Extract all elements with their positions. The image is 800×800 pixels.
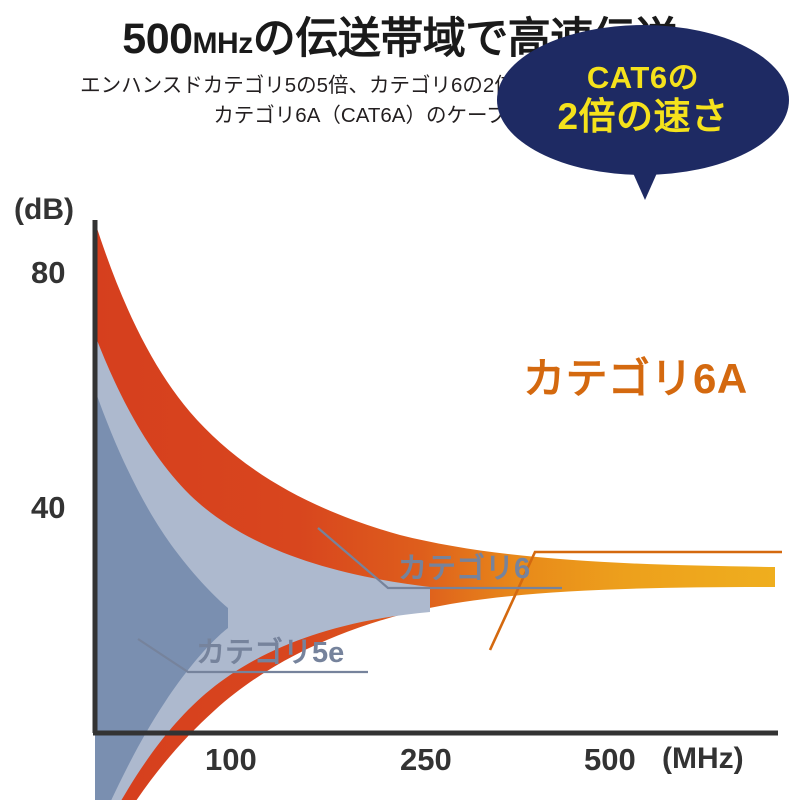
callout-line-2: 2倍の速さ xyxy=(557,96,728,139)
y-tick-label-40: 40 xyxy=(31,490,65,526)
callout-text: CAT6の 2倍の速さ xyxy=(497,25,789,175)
y-tick-label-80: 80 xyxy=(31,255,65,291)
y-axis-unit-label: (dB) xyxy=(14,193,74,227)
headline-number: 500 xyxy=(122,15,192,63)
series-label-cat6a: カテゴリ6A xyxy=(523,345,748,406)
headline-unit: MHz xyxy=(193,27,253,60)
series-label-cat6: カテゴリ6 xyxy=(398,545,530,587)
callout-line-1: CAT6の xyxy=(587,61,699,96)
series-label-cat5e: カテゴリ5e xyxy=(196,629,344,671)
x-tick-label-250: 250 xyxy=(400,742,452,778)
x-tick-label-100: 100 xyxy=(205,742,257,778)
chart-svg xyxy=(0,150,800,800)
bandwidth-chart: (dB) 80 40 100 250 500 (MHz) カテゴリ6A カテゴリ… xyxy=(0,150,800,800)
callout-badge: CAT6の 2倍の速さ xyxy=(497,25,789,175)
x-tick-label-500: 500 xyxy=(584,742,636,778)
x-axis-unit-label: (MHz) xyxy=(662,742,744,776)
